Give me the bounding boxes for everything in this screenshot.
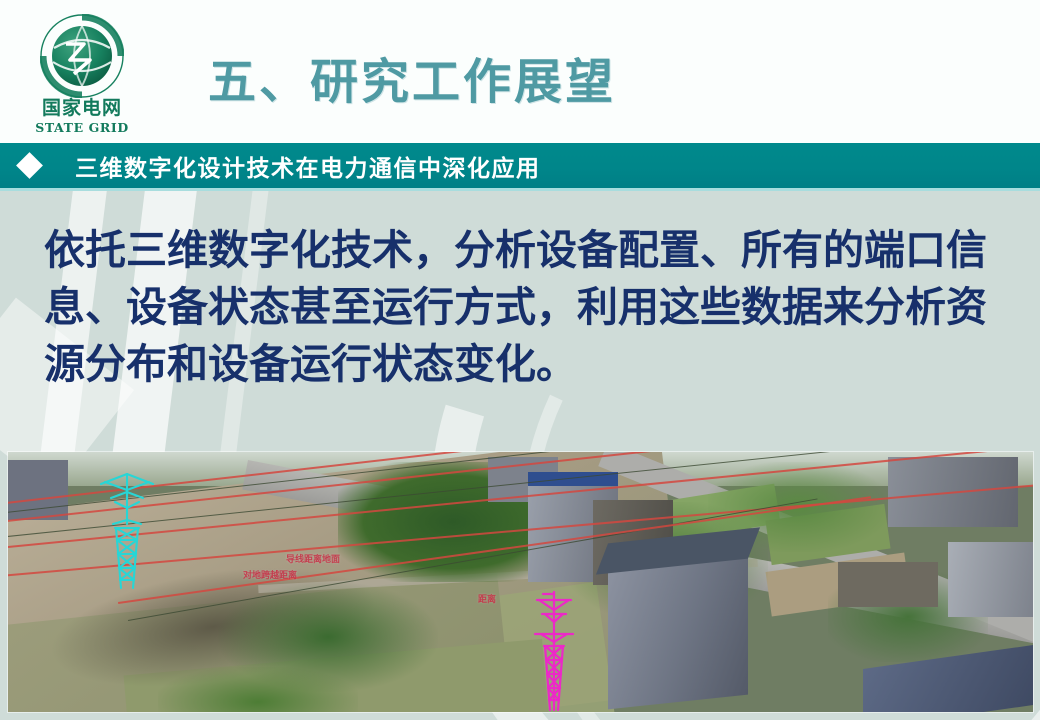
diamond-bullet-icon: [16, 152, 43, 179]
logo-name-en: STATE GRID: [35, 120, 129, 135]
transmission-tower-magenta: [529, 590, 579, 712]
state-grid-logo: 国家电网 STATE GRID: [24, 14, 140, 132]
state-grid-globe-icon: [40, 14, 124, 98]
section-header-bar: 三维数字化设计技术在电力通信中深化应用: [0, 143, 1040, 188]
body-paragraph: 依托三维数字化技术，分析设备配置、所有的端口信息、设备状态甚至运行方式，利用这些…: [44, 222, 994, 393]
slide-header-band: 国家电网 STATE GRID 五、研究工作展望: [0, 0, 1040, 143]
page-title: 五、研究工作展望: [208, 42, 616, 112]
figure-annotation: 距离: [478, 592, 496, 605]
photo-building-5: [948, 542, 1033, 617]
section-header-label: 三维数字化设计技术在电力通信中深化应用: [75, 149, 541, 183]
aerial-3d-model-photo: 导线距离地面 对地跨越距离 距离: [8, 452, 1033, 712]
presentation-slide: 国家电网 STATE GRID 五、研究工作展望 三维数字化设计技术在电力通信中…: [0, 0, 1040, 720]
figure-annotation: 导线距离地面: [286, 552, 340, 565]
transmission-tower-cyan: [95, 468, 159, 590]
photo-building-1: [608, 545, 748, 710]
photo-trees-6: [158, 667, 358, 712]
figure-annotation: 对地跨越距离: [243, 568, 297, 581]
photo-building-6: [838, 562, 938, 607]
logo-name-cn: 国家电网: [42, 99, 122, 119]
